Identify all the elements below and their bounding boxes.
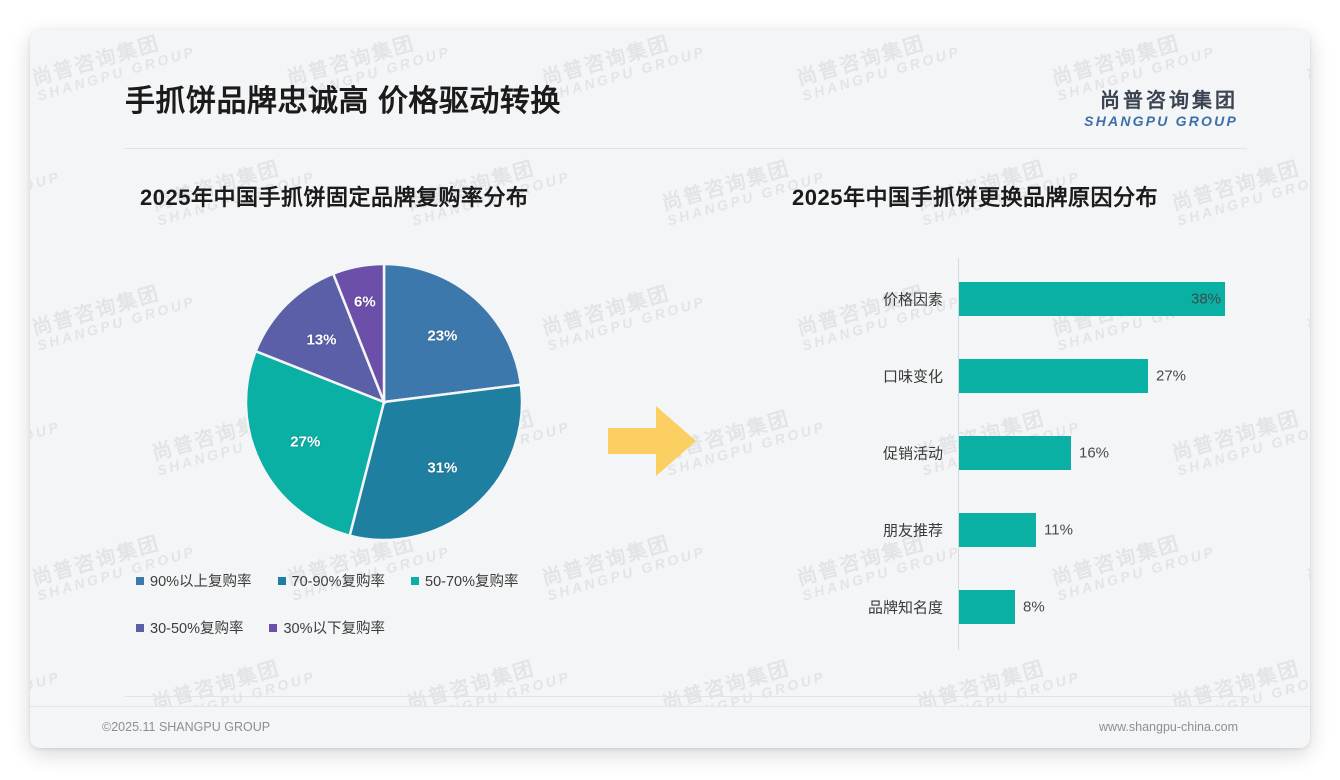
bar-row: 价格因素38%	[730, 282, 1250, 316]
page-title: 手抓饼品牌忠诚高 价格驱动转换	[125, 76, 561, 120]
legend-swatch-icon	[278, 577, 286, 585]
pie-chart-title: 2025年中国手抓饼固定品牌复购率分布	[140, 180, 688, 212]
bar-row: 促销活动16%	[730, 436, 1250, 470]
pie-slice-label: 23%	[427, 327, 457, 344]
legend-item[interactable]: 90%以上复购率	[136, 570, 252, 591]
watermark-text: 尚普咨询集团SHANGPU GROUP	[1305, 275, 1310, 354]
legend-row: 90%以上复购率70-90%复购率50-70%复购率	[136, 570, 666, 591]
legend-swatch-icon	[136, 624, 144, 632]
legend-row: 30-50%复购率30%以下复购率	[136, 617, 666, 638]
bar-fill[interactable]	[959, 513, 1036, 547]
legend-item[interactable]: 30%以下复购率	[269, 617, 385, 638]
bar-row: 口味变化27%	[730, 359, 1250, 393]
pie-chart-area: 23%31%27%13%6%	[108, 252, 688, 552]
watermark-text: 尚普咨询集团SHANGPU GROUP	[30, 150, 62, 229]
pie-slice-label: 13%	[306, 331, 336, 348]
brand-name-cn: 尚普咨询集团	[1084, 90, 1238, 113]
screenshot-root: 尚普咨询集团SHANGPU GROUP尚普咨询集团SHANGPU GROUP尚普…	[0, 0, 1340, 780]
header-divider	[125, 148, 1247, 149]
watermark-text: 尚普咨询集团SHANGPU GROUP	[30, 400, 62, 479]
bar-category-label: 朋友推荐	[883, 520, 943, 541]
slide-header: 手抓饼品牌忠诚高 价格驱动转换 尚普咨询集团 SHANGPU GROUP	[30, 30, 1310, 150]
bar-value-label: 27%	[1156, 368, 1186, 385]
panel-bar-chart: 2025年中国手抓饼更换品牌原因分布 价格因素38%口味变化27%促销活动16%…	[730, 180, 1250, 680]
legend-item[interactable]: 70-90%复购率	[278, 570, 385, 591]
slide-card: 尚普咨询集团SHANGPU GROUP尚普咨询集团SHANGPU GROUP尚普…	[30, 30, 1310, 748]
pie-slice-label: 27%	[290, 434, 320, 451]
bar-fill[interactable]	[959, 436, 1071, 470]
slide-footer: ©2025.11 SHANGPU GROUP www.shangpu-china…	[30, 706, 1310, 748]
bar-category-label: 价格因素	[883, 289, 943, 310]
bar-value-label: 16%	[1079, 445, 1109, 462]
bar-category-label: 品牌知名度	[868, 597, 943, 618]
footer-website[interactable]: www.shangpu-china.com	[1099, 720, 1238, 734]
bar-row: 品牌知名度8%	[730, 590, 1250, 624]
right-arrow-icon	[608, 402, 698, 485]
legend-item[interactable]: 50-70%复购率	[411, 570, 518, 591]
legend-label: 50-70%复购率	[425, 570, 518, 591]
note-divider	[125, 696, 1247, 697]
legend-item[interactable]: 30-50%复购率	[136, 617, 243, 638]
bar-category-label: 促销活动	[883, 443, 943, 464]
legend-label: 90%以上复购率	[150, 570, 252, 591]
brand-name-en: SHANGPU GROUP	[1084, 113, 1238, 130]
bar-value-label: 38%	[1191, 291, 1221, 308]
footer-divider	[30, 706, 1310, 707]
watermark-text: 尚普咨询集团SHANGPU GROUP	[1305, 525, 1310, 604]
bar-fill[interactable]	[959, 590, 1015, 624]
legend-swatch-icon	[269, 624, 277, 632]
bar-chart-area: 价格因素38%口味变化27%促销活动16%朋友推荐11%品牌知名度8%	[730, 250, 1250, 650]
bar-fill[interactable]	[959, 282, 1225, 316]
legend-swatch-icon	[136, 577, 144, 585]
pie-legend: 90%以上复购率70-90%复购率50-70%复购率30-50%复购率30%以下…	[136, 570, 666, 638]
pie-slice-label: 31%	[427, 460, 457, 477]
footer-copyright: ©2025.11 SHANGPU GROUP	[102, 720, 270, 734]
legend-label: 70-90%复购率	[292, 570, 385, 591]
bar-fill[interactable]	[959, 359, 1148, 393]
bar-value-label: 8%	[1023, 599, 1045, 616]
bar-value-label: 11%	[1044, 522, 1073, 539]
pie-slice-label: 6%	[354, 293, 376, 310]
panel-pie-chart: 2025年中国手抓饼固定品牌复购率分布 23%31%27%13%6% 90%以上…	[108, 180, 688, 680]
legend-swatch-icon	[411, 577, 419, 585]
brand-logo: 尚普咨询集团 SHANGPU GROUP	[1084, 90, 1238, 130]
bar-chart-title: 2025年中国手抓饼更换品牌原因分布	[792, 180, 1250, 212]
legend-label: 30-50%复购率	[150, 617, 243, 638]
pie-chart-svg	[234, 252, 534, 552]
legend-label: 30%以下复购率	[283, 617, 385, 638]
bar-row: 朋友推荐11%	[730, 513, 1250, 547]
bar-category-label: 口味变化	[883, 366, 943, 387]
